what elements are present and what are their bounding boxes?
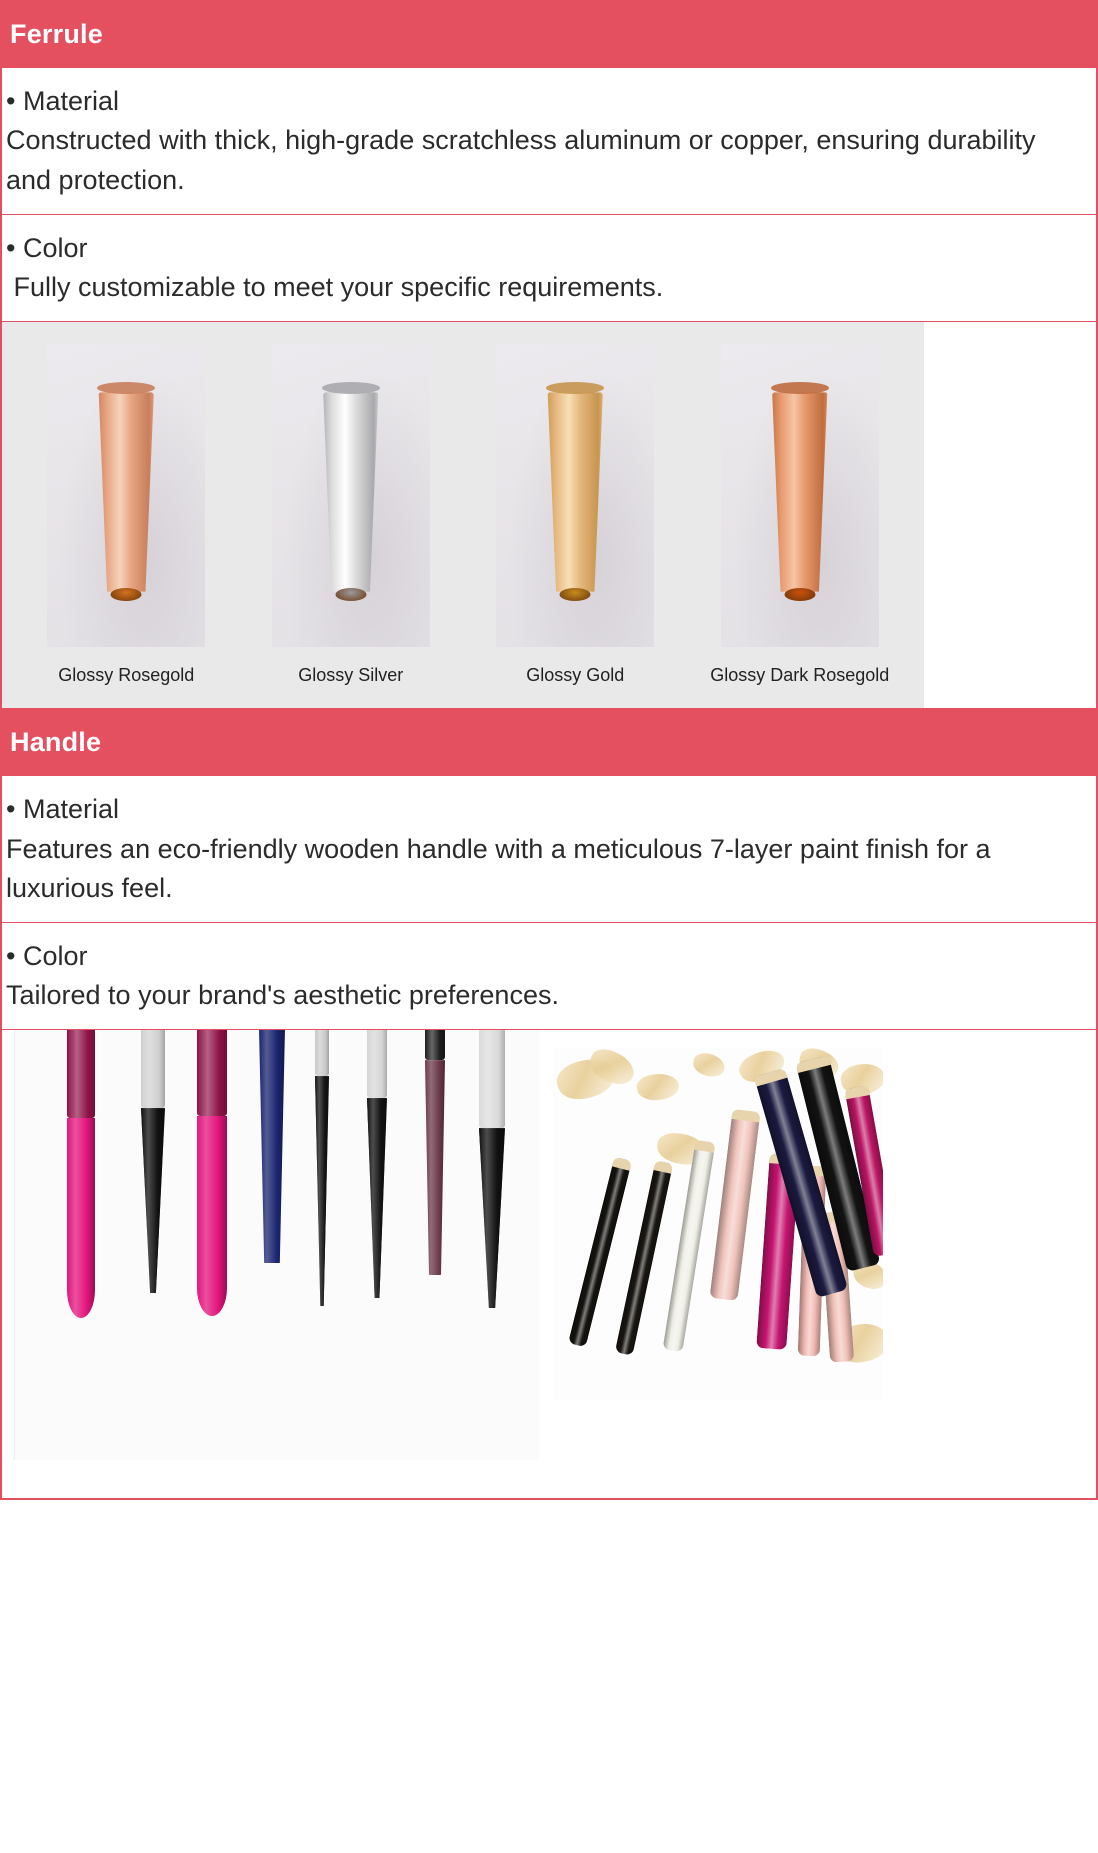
ferrule-material-body: Constructed with thick, high-grade scrat… [6, 121, 1084, 199]
ferrule-caption: Glossy Rosegold [14, 665, 239, 686]
wood-shaving-2 [635, 1071, 680, 1103]
product-spec-page: Ferrule • Material Constructed with thic… [0, 0, 1098, 1853]
wood-handle-stick-3 [710, 1109, 761, 1301]
handle-material-body: Features an eco-friendly wooden handle w… [6, 830, 1084, 908]
brush-handle [67, 1118, 95, 1318]
brush-4 [315, 1030, 329, 1306]
brush-handle [259, 1030, 285, 1263]
ferrule-top-ellipse [97, 382, 155, 394]
brush-ferrule [315, 1030, 329, 1076]
ferrule-photo [47, 344, 205, 647]
brush-handle [479, 1128, 505, 1308]
brush-2 [197, 1030, 227, 1316]
ferrule-caption: Glossy Silver [239, 665, 464, 686]
handle-material-label: • Material [6, 790, 1084, 829]
ferrule-material-row: • Material Constructed with thick, high-… [2, 68, 1096, 214]
ferrule-color-gallery: Glossy RosegoldGlossy SilverGlossy GoldG… [2, 322, 924, 708]
ferrule-mouth [335, 588, 366, 601]
ferrule-swatch-3 [688, 344, 913, 647]
page-footer-spacer [0, 1460, 1098, 1500]
ferrule-gallery-row: Glossy RosegoldGlossy SilverGlossy GoldG… [2, 322, 1096, 708]
handle-images-row [2, 1030, 1096, 1460]
ferrule-photo [721, 344, 879, 647]
ferrule-material-label: • Material [6, 82, 1084, 121]
brush-handle [141, 1108, 165, 1293]
ferrule-gallery-images [2, 344, 924, 647]
brush-ferrule [479, 1030, 505, 1128]
ferrule-color-label: • Color [6, 229, 1084, 268]
stick-tip [731, 1109, 760, 1122]
stick-tip [653, 1160, 673, 1174]
brush-ferrule [67, 1030, 95, 1118]
brush-0 [67, 1030, 95, 1318]
section-header-handle: Handle [0, 708, 1098, 776]
ferrule-mouth [784, 588, 815, 601]
ferrule-top-ellipse [322, 382, 380, 394]
ferrule-color-row: • Color Fully customizable to meet your … [2, 215, 1096, 322]
ferrule-swatch-0 [14, 344, 239, 647]
handle-color-brushes-photo [14, 1030, 539, 1460]
ferrule-swatch-2 [463, 344, 688, 647]
ferrule-photo [496, 344, 654, 647]
ferrule-top-ellipse [546, 382, 604, 394]
ferrule-caption: Glossy Dark Rosegold [688, 665, 913, 686]
ferrule-photo [272, 344, 430, 647]
brush-1 [141, 1030, 165, 1293]
ferrule-mouth [111, 588, 142, 601]
section-handle: Handle • Material Features an eco-friend… [0, 708, 1098, 1460]
ferrule-top-ellipse [771, 382, 829, 394]
ferrule-mouth [560, 588, 591, 601]
brush-ferrule [367, 1030, 387, 1098]
section-header-ferrule: Ferrule [0, 0, 1098, 68]
brush-3 [259, 1030, 285, 1263]
brush-handle [315, 1076, 329, 1306]
section-ferrule: Ferrule • Material Constructed with thic… [0, 0, 1098, 708]
brush-7 [479, 1030, 505, 1308]
ferrule-gallery-captions: Glossy RosegoldGlossy SilverGlossy GoldG… [2, 665, 924, 708]
brush-ferrule [197, 1030, 227, 1116]
handle-color-row: • Color Tailored to your brand's aesthet… [2, 923, 1096, 1030]
ferrule-caption: Glossy Gold [463, 665, 688, 686]
handle-material-row: • Material Features an eco-friendly wood… [2, 776, 1096, 922]
brush-handle [367, 1098, 387, 1298]
brush-handle [197, 1116, 227, 1316]
wood-shaving-3 [691, 1051, 727, 1079]
brush-ferrule [141, 1030, 165, 1108]
handle-wood-sticks-photo [553, 1048, 883, 1400]
stick-tip [612, 1157, 632, 1171]
brush-6 [425, 1030, 445, 1275]
ferrule-swatch-1 [239, 344, 464, 647]
brush-handle [425, 1060, 445, 1275]
handle-color-body: Tailored to your brand's aesthetic prefe… [6, 976, 1084, 1015]
brush-ferrule [425, 1030, 445, 1060]
stick-tip [694, 1140, 715, 1153]
ferrule-color-body: Fully customizable to meet your specific… [6, 268, 1084, 307]
handle-color-label: • Color [6, 937, 1084, 976]
brush-5 [367, 1030, 387, 1298]
